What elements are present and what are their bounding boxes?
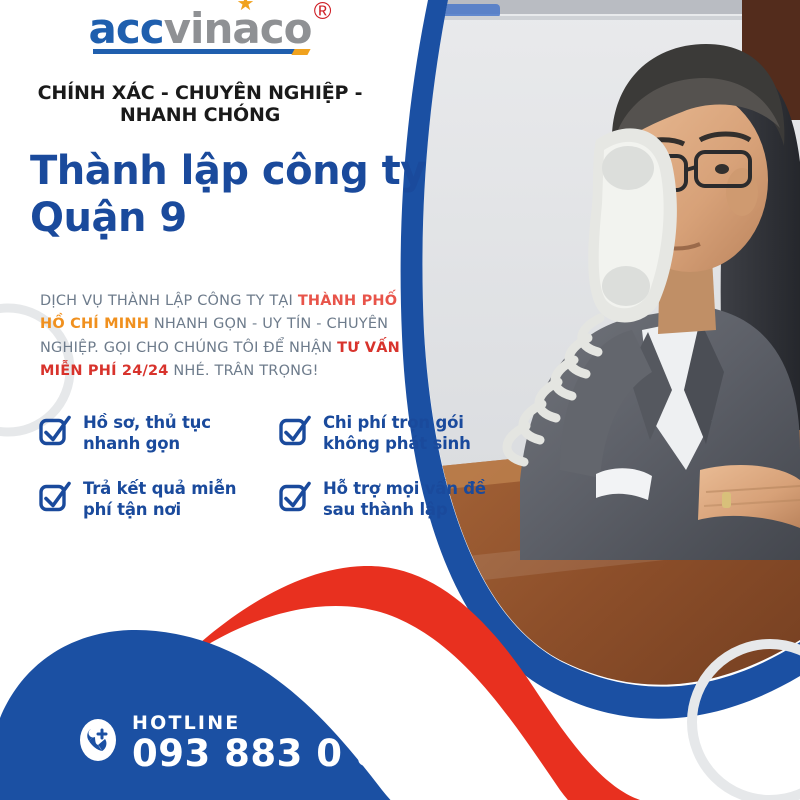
brand-tagline: CHÍNH XÁC - CHUYÊN NGHIỆP - NHANH CHÓNG: [0, 82, 400, 126]
feature-label-line-2: sau thành lập: [323, 500, 447, 519]
phone-call-icon: [78, 718, 118, 767]
hotline-block[interactable]: HOTLINE 093 883 0 883: [78, 712, 435, 772]
promo-banner: ★ accvinaco ® CHÍNH XÁC - CHUYÊN NGHIỆP …: [0, 0, 800, 800]
description-paragraph: DỊCH VỤ THÀNH LẬP CÔNG TY TẠI THÀNH PHỐ …: [40, 290, 410, 384]
feature-label: Hỗ trợ mọi vấn đề sau thành lập: [323, 478, 486, 520]
blurb-seg-6: NHÉ. TRÂN TRỌNG!: [169, 363, 319, 379]
headline-line-2: Quận 9: [30, 195, 430, 242]
blurb-seg-1: DỊCH VỤ THÀNH LẬP CÔNG TY TẠI: [40, 293, 298, 309]
feature-item: Trả kết quả miễn phí tận nơi: [38, 478, 266, 544]
checkbox-check-icon: [278, 414, 312, 453]
feature-label: Chi phí trọn gói không phát sinh: [323, 412, 471, 454]
logo-underline: [93, 49, 296, 54]
feature-item: Hỗ trợ mọi vấn đề sau thành lập: [278, 478, 506, 544]
checkbox-check-icon: [38, 480, 72, 519]
feature-list: Hồ sơ, thủ tục nhanh gọn Chi phí trọn gó…: [38, 412, 508, 544]
feature-label-line-2: phí tận nơi: [83, 500, 181, 519]
feature-label-line-1: Hồ sơ, thủ tục: [83, 413, 211, 432]
feature-label-line-2: không phát sinh: [323, 434, 471, 453]
hotline-label: HOTLINE: [132, 712, 435, 734]
logo-wordmark: ★ accvinaco ®: [89, 8, 312, 50]
feature-label-line-1: Trả kết quả miễn: [83, 479, 236, 498]
brand-logo[interactable]: ★ accvinaco ®: [0, 8, 400, 50]
checkbox-check-icon: [38, 414, 72, 453]
hotline-text: HOTLINE 093 883 0 883: [132, 712, 435, 772]
blurb-highlight-city-name: HỒ CHÍ MINH: [40, 316, 149, 332]
feature-label-line-1: Hỗ trợ mọi vấn đề: [323, 479, 486, 498]
headline-line-1: Thành lập công ty: [30, 148, 430, 195]
feature-label-line-2: nhanh gọn: [83, 434, 180, 453]
logo-text-acc: acc: [89, 4, 164, 53]
feature-item: Chi phí trọn gói không phát sinh: [278, 412, 506, 478]
blurb-highlight-city-label: THÀNH PHỐ: [298, 293, 397, 309]
feature-item: Hồ sơ, thủ tục nhanh gọn: [38, 412, 266, 478]
feature-label: Trả kết quả miễn phí tận nơi: [83, 478, 236, 520]
registered-trademark-icon: ®: [314, 0, 332, 24]
hotline-number[interactable]: 093 883 0 883: [132, 735, 435, 772]
feature-label-line-1: Chi phí trọn gói: [323, 413, 464, 432]
star-icon: ★: [237, 0, 255, 14]
feature-label: Hồ sơ, thủ tục nhanh gọn: [83, 412, 211, 454]
page-title: Thành lập công ty Quận 9: [30, 148, 430, 242]
checkbox-check-icon: [278, 480, 312, 519]
logo-underline-accent: [292, 49, 311, 55]
